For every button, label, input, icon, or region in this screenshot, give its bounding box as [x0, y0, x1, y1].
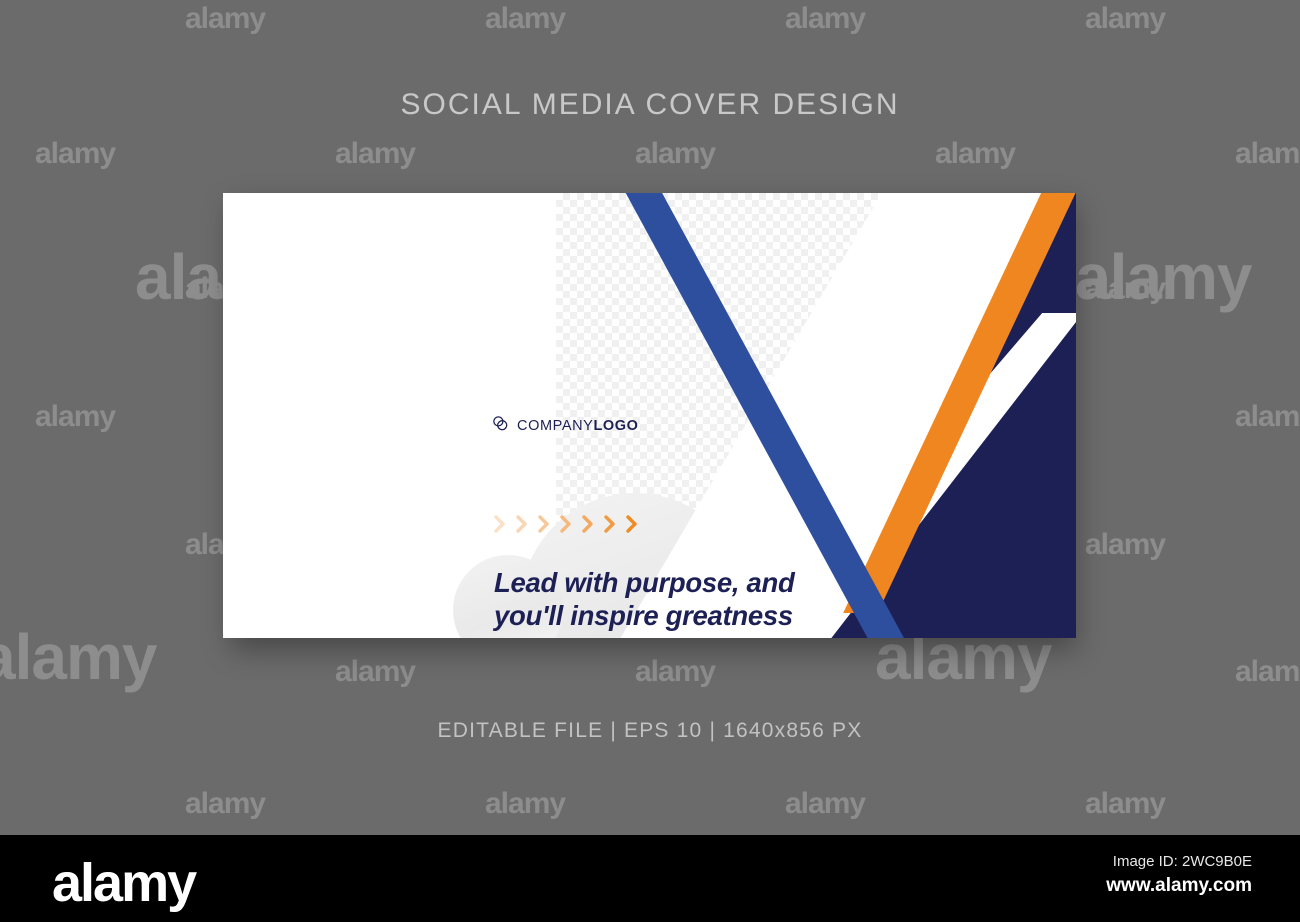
- watermark-text: alamy: [1085, 528, 1165, 562]
- watermark-text: alamy: [35, 137, 115, 171]
- chevron-right-icon: [493, 514, 506, 539]
- chevron-right-icon: [625, 514, 638, 539]
- watermark-text: alamy: [185, 2, 265, 36]
- overlapping-circles-logo-icon: [492, 415, 509, 437]
- watermark-text: alamy: [785, 2, 865, 36]
- logo-text-light: COMPANY: [517, 418, 593, 434]
- file-caption: EDITABLE FILE | EPS 10 | 1640x856 PX: [0, 719, 1300, 743]
- chevron-right-icon: [515, 514, 528, 539]
- watermark-text: alamy: [1085, 787, 1165, 821]
- watermark-text: alamy: [485, 2, 565, 36]
- alamy-logo: alamy: [52, 852, 195, 914]
- watermark-text-large: alamy: [1075, 240, 1251, 314]
- chevron-right-icon: [581, 514, 594, 539]
- watermark-text: alamy: [635, 655, 715, 689]
- watermark-text-large: alamy: [0, 620, 156, 694]
- company-logo: COMPANYLOGO: [492, 415, 639, 437]
- cover-card: COMPANYLOGO Lead with purpose, and you'l…: [223, 193, 1076, 638]
- watermark-text: alamy: [635, 137, 715, 171]
- watermark-text: alamy: [1235, 400, 1300, 434]
- watermark-text: alamy: [1085, 2, 1165, 36]
- headline-text: Lead with purpose, and you'll inspire gr…: [494, 566, 814, 632]
- watermark-text: alamy: [485, 787, 565, 821]
- company-logo-text: COMPANYLOGO: [517, 418, 639, 434]
- watermark-text: alamy: [335, 655, 415, 689]
- watermark-text: alamy: [185, 787, 265, 821]
- watermark-text: alamy: [1235, 655, 1300, 689]
- image-id-label: Image ID: 2WC9B0E: [952, 853, 1252, 870]
- watermark-text: alamy: [335, 137, 415, 171]
- alamy-footer-bar: alamy Image ID: 2WC9B0E www.alamy.com: [0, 835, 1300, 922]
- watermark-text: alamy: [35, 400, 115, 434]
- watermark-text: alamy: [785, 787, 865, 821]
- watermark-text: alamy: [935, 137, 1015, 171]
- watermark-text: alamy: [1085, 272, 1165, 306]
- chevron-right-icon: [537, 514, 550, 539]
- logo-text-bold: LOGO: [593, 418, 638, 434]
- chevron-right-icon: [559, 514, 572, 539]
- chevron-arrow-group: [493, 514, 638, 539]
- watermark-text: alamy: [1235, 137, 1300, 171]
- page-title: SOCIAL MEDIA COVER DESIGN: [0, 88, 1300, 122]
- chevron-right-icon: [603, 514, 616, 539]
- alamy-url: www.alamy.com: [952, 875, 1252, 897]
